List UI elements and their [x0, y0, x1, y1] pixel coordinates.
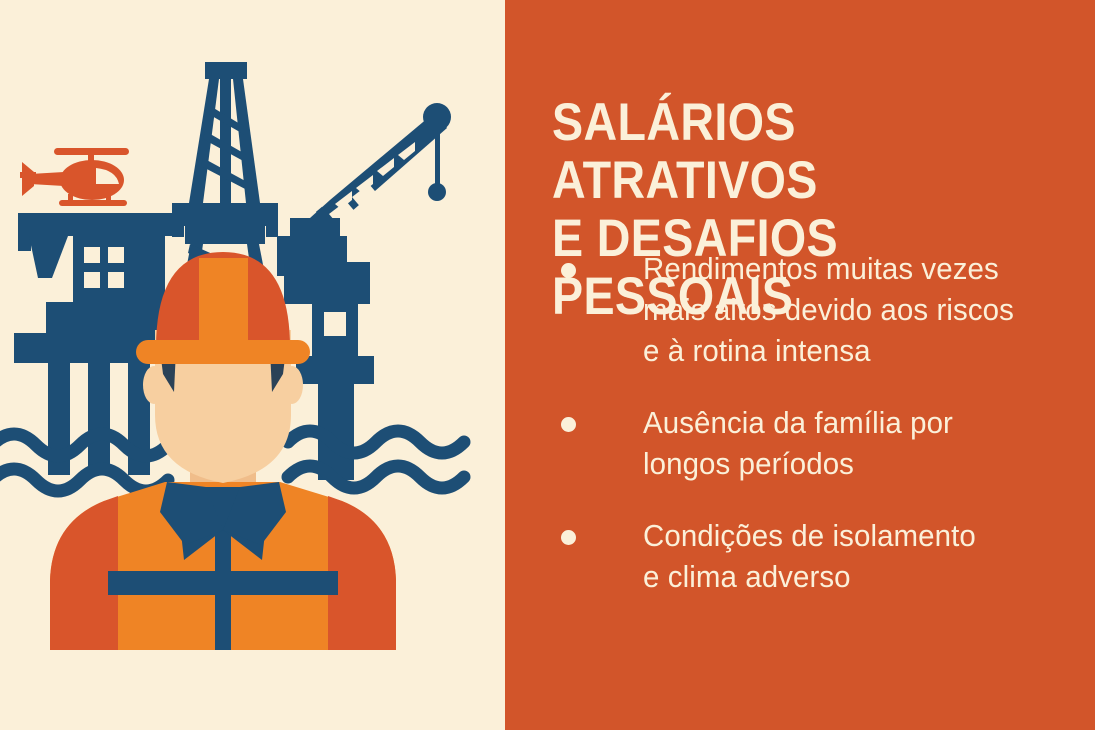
text-panel: SALÁRIOS ATRATIVOS E DESAFIOS PESSOAIS R… — [505, 0, 1095, 730]
infographic-poster: Trabalhador de plataforma de petróleo co… — [0, 0, 1095, 730]
bullet-dot-icon — [561, 530, 576, 545]
bullet-dot-icon — [561, 263, 576, 278]
list-item: Ausência da família por longos períodos — [550, 402, 1070, 484]
offshore-worker-illustration: Trabalhador de plataforma de petróleo co… — [0, 0, 505, 730]
list-item: Condições de isolamento e clima adverso — [550, 515, 1070, 597]
hard-hat-brim — [136, 340, 310, 364]
worker-left-ear — [143, 366, 165, 404]
jacket-zipper — [215, 528, 231, 650]
illustration-panel: Trabalhador de plataforma de petróleo co… — [0, 0, 505, 730]
list-item-label: Ausência da família por longos períodos — [643, 402, 1049, 484]
hard-hat-ridge — [199, 258, 248, 348]
list-item: Rendimentos muitas vezes mais altos devi… — [550, 248, 1070, 371]
worker-right-ear — [281, 366, 303, 404]
bullet-dot-icon — [561, 417, 576, 432]
list-item-label: Condições de isolamento e clima adverso — [643, 515, 1049, 597]
benefits-bullet-list: Rendimentos muitas vezes mais altos devi… — [550, 248, 1070, 628]
list-item-label: Rendimentos muitas vezes mais altos devi… — [643, 248, 1049, 371]
